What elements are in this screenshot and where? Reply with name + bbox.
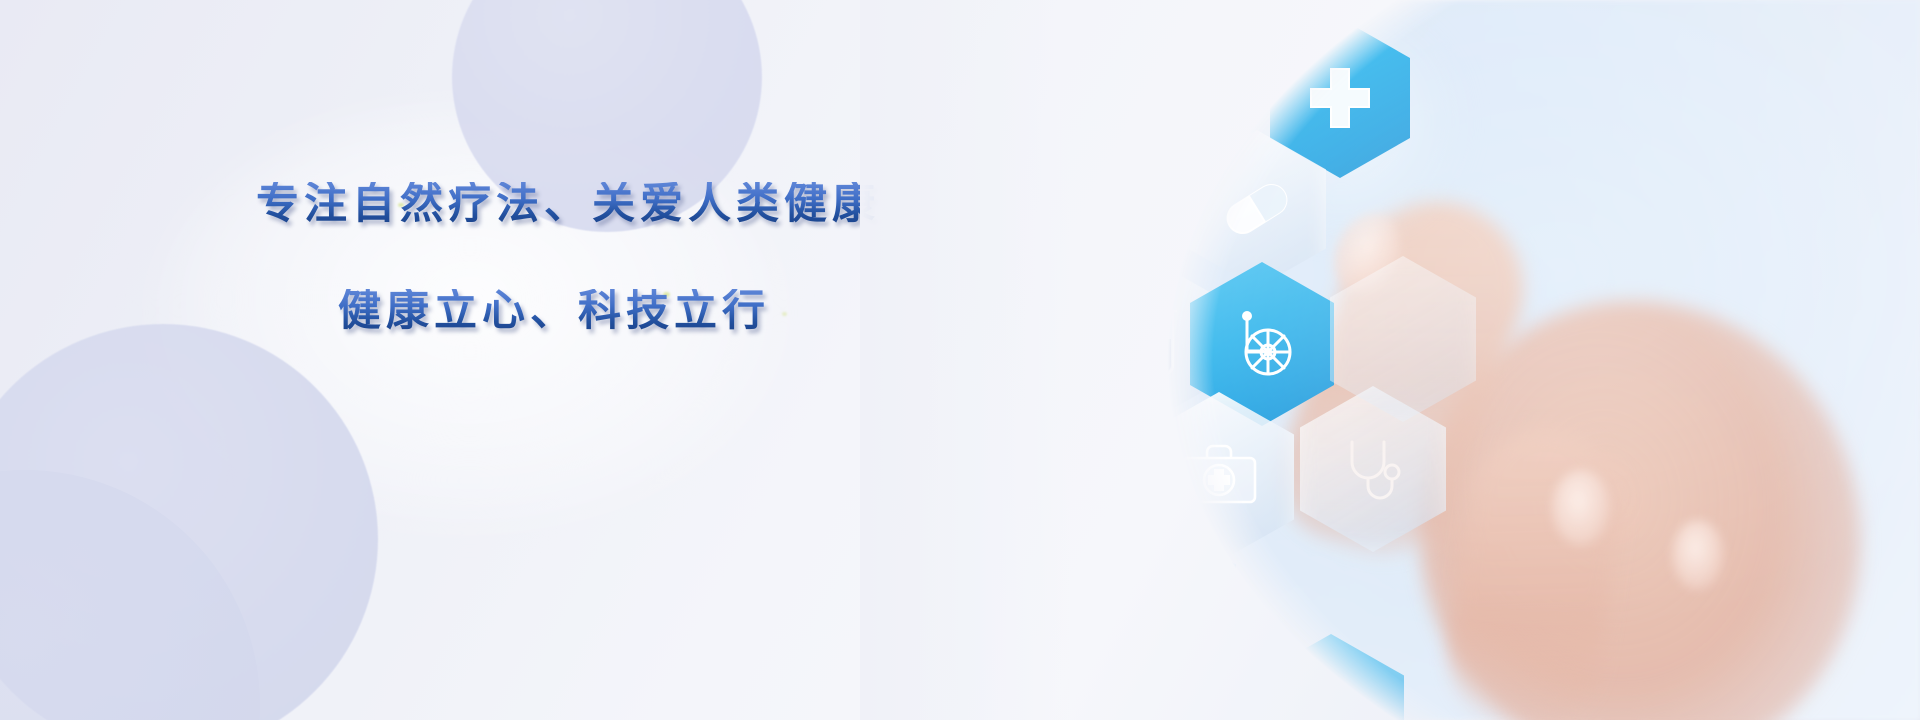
stethoscope-icon <box>1336 432 1410 506</box>
decorative-circle-bottom <box>0 324 378 720</box>
headline-block: 专注自然疗法、关爱人类健康 健康立心、科技立行 <box>256 182 956 334</box>
decorative-circle-bottom-2 <box>0 470 260 720</box>
first-aid-kit-icon <box>1177 442 1261 512</box>
hero-banner: 专注自然疗法、关爱人类健康 健康立心、科技立行 <box>0 0 1920 720</box>
wheelchair-icon <box>1223 307 1301 381</box>
people-group-icon <box>1115 576 1207 638</box>
teal-arc-icon <box>860 0 1150 494</box>
capsule-pill-icon <box>1217 178 1297 240</box>
hex-decorative <box>1330 256 1476 422</box>
hex-stethoscope <box>1300 386 1446 552</box>
heart-pulse-icon <box>1000 570 1076 638</box>
medical-cross-icon <box>1303 61 1377 135</box>
hero-image <box>860 0 1920 720</box>
headline-line-1: 专注自然疗法、关爱人类健康 <box>256 182 956 227</box>
teal-arc-group <box>860 0 1150 494</box>
hex-decorative <box>1258 634 1404 720</box>
